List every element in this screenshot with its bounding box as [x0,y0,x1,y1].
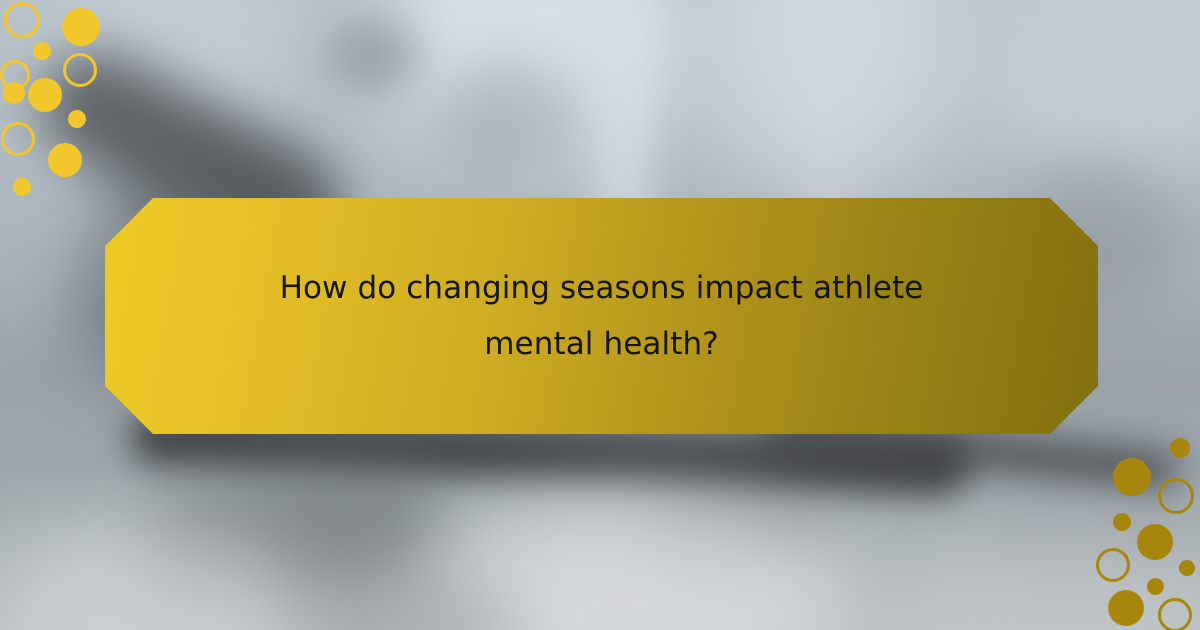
title-banner: How do changing seasons impact athlete m… [105,198,1098,434]
page-title: How do changing seasons impact athlete m… [252,260,952,373]
social-card: How do changing seasons impact athlete m… [0,0,1200,630]
